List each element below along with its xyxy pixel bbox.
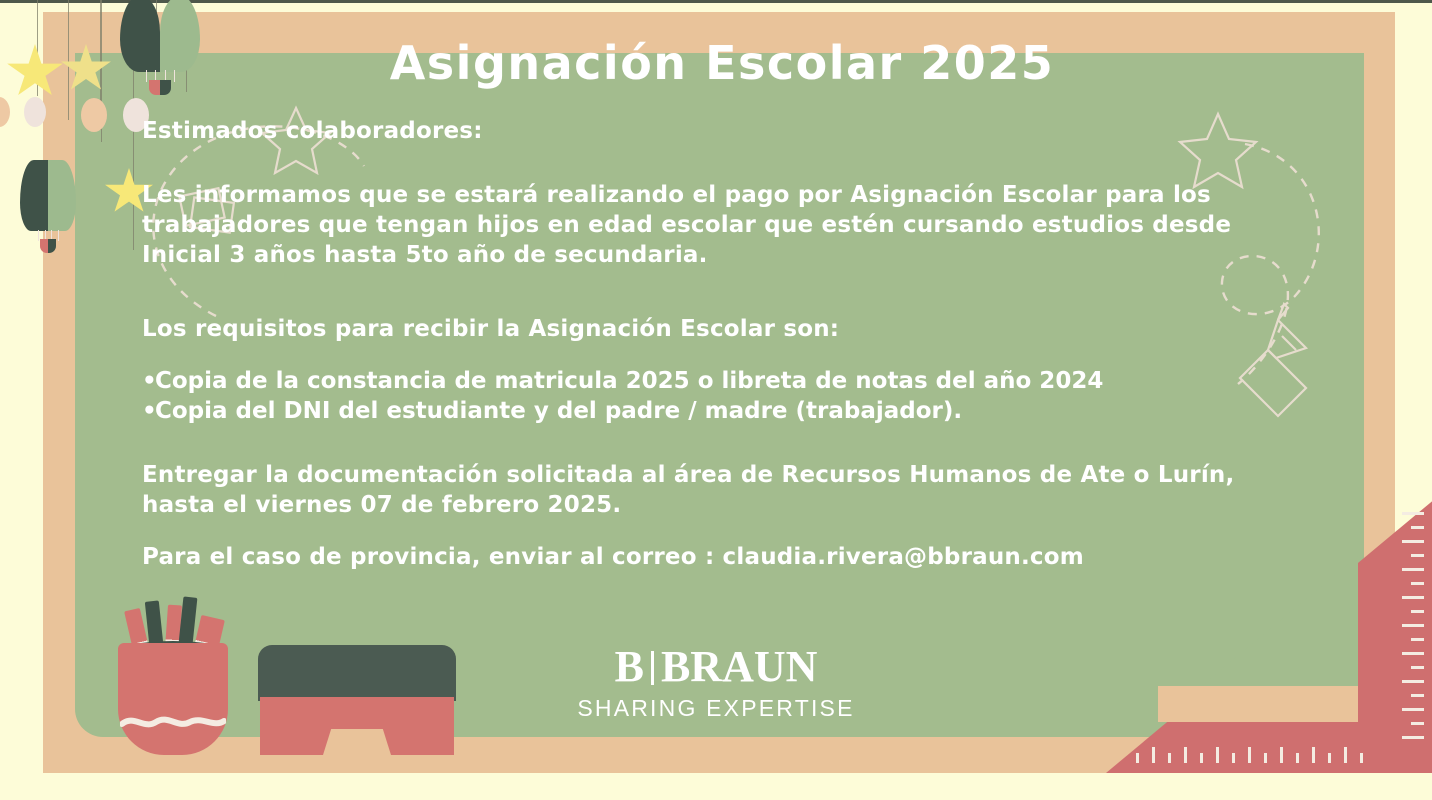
logo-word: BRAUN xyxy=(661,642,817,691)
spacer xyxy=(142,426,1312,460)
top-rule-line xyxy=(0,0,1432,3)
hanging-string xyxy=(68,0,69,120)
delivery-paragraph: Entregar la documentación solicitada al … xyxy=(142,460,1312,520)
balloon-envelope xyxy=(20,160,76,231)
spacer xyxy=(142,146,1312,180)
bag-handle xyxy=(323,729,391,755)
list-item: Copia del DNI del estudiante y del padre… xyxy=(142,396,1312,426)
requirements-heading: Los requisitos para recibir la Asignació… xyxy=(142,314,1312,344)
logo-divider xyxy=(651,651,654,685)
cloud-icon xyxy=(0,88,50,136)
spacer xyxy=(142,520,1312,542)
balloon-basket xyxy=(40,239,56,253)
list-item: Copia de la constancia de matricula 2025… xyxy=(142,366,1312,396)
requirements-list: Copia de la constancia de matricula 2025… xyxy=(142,366,1312,426)
hot-air-balloon-icon xyxy=(20,160,76,254)
poster-canvas: Asignación Escolar 2025 Estimados colabo… xyxy=(0,0,1432,800)
province-paragraph: Para el caso de provincia, enviar al cor… xyxy=(142,542,1312,572)
logo-tagline: SHARING EXPERTISE xyxy=(0,695,1432,722)
ruler-horizontal-ticks xyxy=(1136,741,1396,763)
bbraun-logo: BBRAUN SHARING EXPERTISE xyxy=(0,645,1432,722)
logo-letter: B xyxy=(615,642,644,691)
page-title: Asignación Escolar 2025 xyxy=(132,36,1312,90)
spacer xyxy=(142,344,1312,366)
logo-mark: BBRAUN xyxy=(0,645,1432,689)
spacer xyxy=(142,270,1312,314)
greeting-text: Estimados colaboradores: xyxy=(142,116,1312,146)
intro-paragraph: Les informamos que se estará realizando … xyxy=(142,180,1312,270)
poster-content: Asignación Escolar 2025 Estimados colabo… xyxy=(142,36,1312,572)
